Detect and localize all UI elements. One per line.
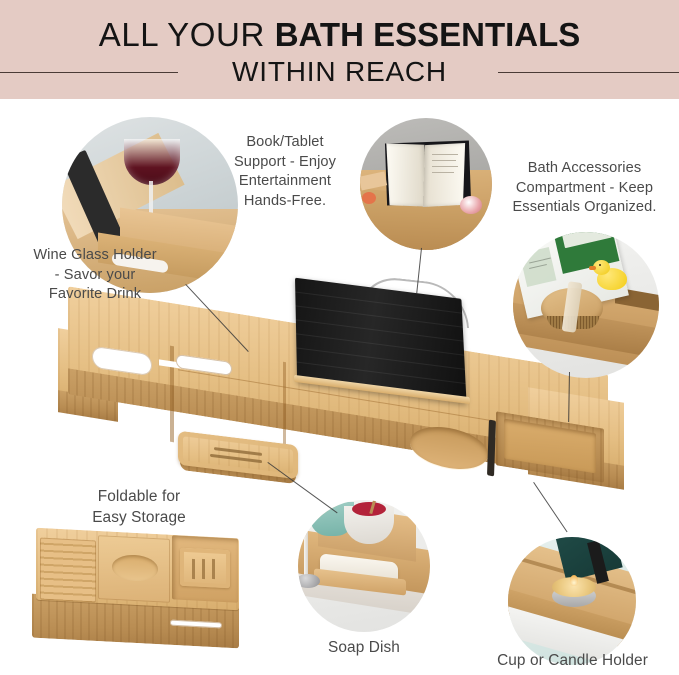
label-book-tablet-support: Book/Tablet Support - Enjoy Entertainmen… (212, 133, 358, 211)
detached-soap-dish (178, 438, 298, 486)
inset-cup-or-candle-holder (508, 537, 636, 665)
inset-bath-accessories-compartment (513, 232, 659, 378)
label-wine-glass-holder: Wine Glass Holder - Savor your Favorite … (0, 246, 190, 305)
label-cup-or-candle-holder: Cup or Candle Holder (470, 650, 675, 671)
title-bold-part: BATH ESSENTIALS (275, 16, 581, 53)
accessory-divider-slot (487, 419, 496, 476)
inset-book-tablet-support (360, 118, 492, 250)
header-rule-left (0, 72, 178, 73)
label-soap-dish: Soap Dish (284, 637, 444, 658)
title-light-part: ALL YOUR (99, 16, 275, 53)
label-bath-accessories-compartment: Bath Accessories Compartment - Keep Esse… (490, 159, 679, 218)
folded-dish-groove (212, 559, 215, 579)
page-title: ALL YOUR BATH ESSENTIALS (0, 16, 679, 54)
infographic-canvas: ALL YOUR BATH ESSENTIALS WITHIN REACH (0, 0, 679, 675)
inset-soap-dish (298, 500, 430, 632)
folded-nested-soap-dish (180, 548, 230, 589)
folded-caddy-photo (30, 533, 245, 653)
header-rule-right (498, 72, 679, 73)
folded-dish-groove (192, 559, 195, 579)
header-banner: ALL YOUR BATH ESSENTIALS WITHIN REACH (0, 0, 679, 99)
folded-slat-panel (40, 538, 96, 603)
folded-dish-groove (202, 559, 205, 579)
label-foldable-storage: Foldable for Easy Storage (46, 486, 232, 528)
